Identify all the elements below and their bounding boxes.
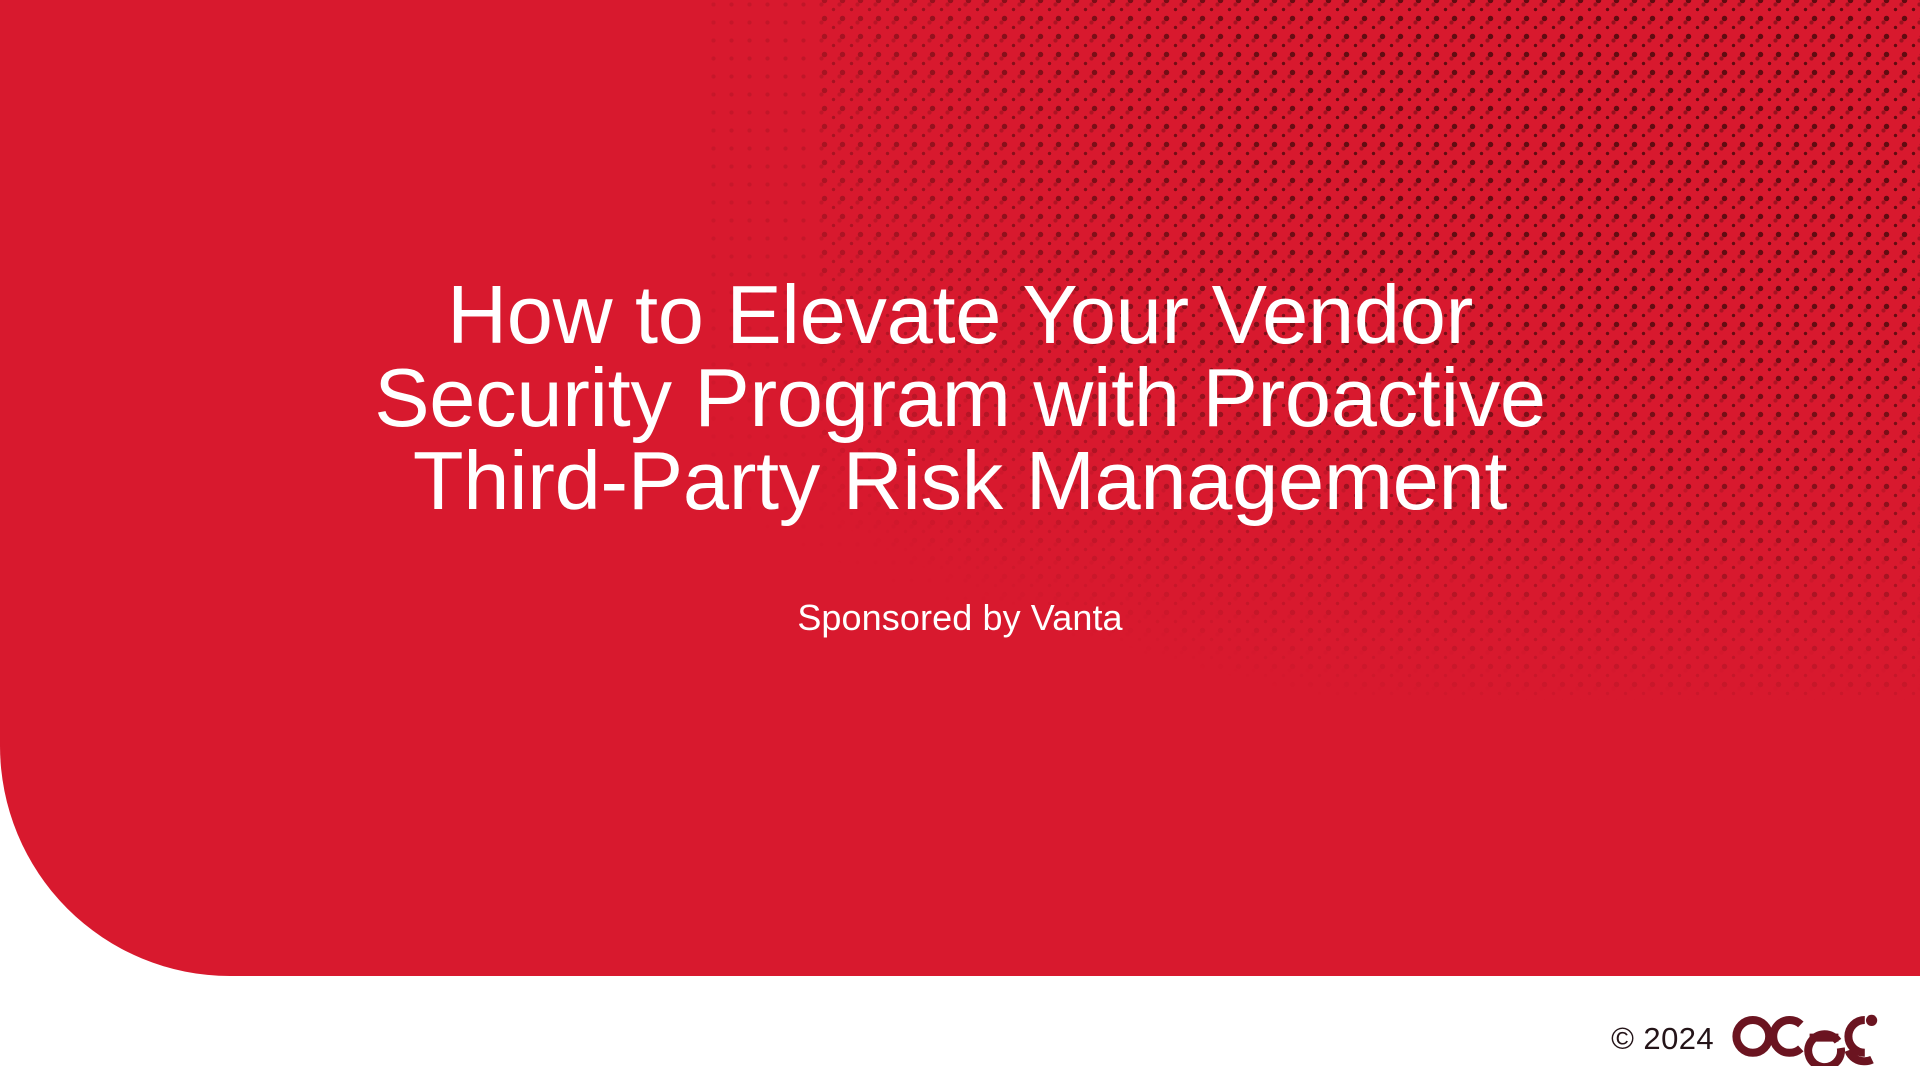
copyright-text: © 2024: [1611, 1023, 1714, 1054]
slide-content: How to Elevate Your Vendor Security Prog…: [0, 0, 1920, 976]
logo-dot: [1866, 1015, 1877, 1026]
title-line-1: How to Elevate Your Vendor: [230, 273, 1690, 356]
slide-title: How to Elevate Your Vendor Security Prog…: [230, 273, 1690, 522]
title-line-3: Third-Party Risk Management: [230, 439, 1690, 522]
presentation-slide: How to Elevate Your Vendor Security Prog…: [0, 0, 1920, 1080]
title-line-2: Security Program with Proactive: [230, 356, 1690, 439]
slide-subtitle: Sponsored by Vanta: [797, 596, 1122, 639]
oceg-logo: [1732, 1010, 1880, 1066]
slide-footer: © 2024: [1611, 1010, 1880, 1066]
